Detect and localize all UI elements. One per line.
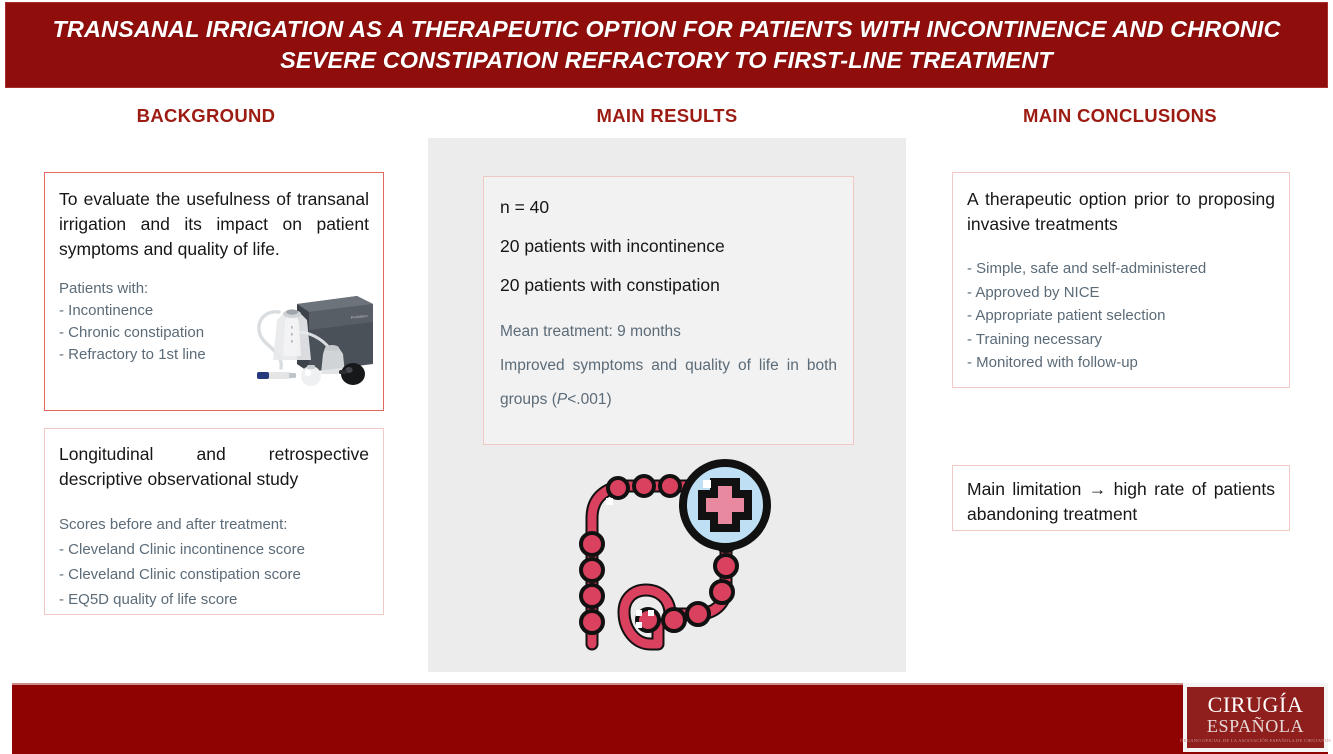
section-heading-main-results: MAIN RESULTS <box>428 105 906 127</box>
journal-logo-line-1: CIRUGÍA <box>1208 694 1304 716</box>
journal-logo-inner: CIRUGÍA ESPAÑOLA ÓRGANO OFICIAL DE LA AS… <box>1187 687 1324 748</box>
section-heading-background: BACKGROUND <box>0 105 412 127</box>
objective-patient-list: Patients with: - Incontinence - Chronic … <box>59 278 369 366</box>
list-item: - Simple, safe and self-administered <box>967 257 1275 281</box>
section-heading-main-conclusions: MAIN CONCLUSIONS <box>950 105 1290 127</box>
results-incontinence-group: 20 patients with incontinence <box>500 234 837 258</box>
page-title: TRANSANAL IRRIGATION AS A THERAPEUTIC OP… <box>28 14 1305 76</box>
list-item: - Incontinence <box>59 300 369 322</box>
journal-logo: CIRUGÍA ESPAÑOLA ÓRGANO OFICIAL DE LA AS… <box>1183 683 1328 752</box>
journal-logo-subtitle: ÓRGANO OFICIAL DE LA ASOCIACIÓN ESPAÑOLA… <box>1180 737 1331 744</box>
results-sample-size: n = 40 <box>500 195 837 219</box>
objective-statement: To evaluate the usefulness of transanal … <box>59 187 369 262</box>
study-design-statement: Longitudinal and retrospective descripti… <box>59 442 369 492</box>
results-box: n = 40 20 patients with incontinence 20 … <box>483 176 854 445</box>
list-item: - Refractory to 1st line <box>59 344 369 366</box>
list-item: - Appropriate patient selection <box>967 304 1275 328</box>
p-value-symbol: P <box>557 391 567 408</box>
list-item: - Chronic constipation <box>59 322 369 344</box>
list-item: - EQ5D quality of life score <box>59 587 369 612</box>
list-item: - Training necessary <box>967 328 1275 352</box>
study-design-score-list: Scores before and after treatment: - Cle… <box>59 512 369 612</box>
conclusion-bullet-list: - Simple, safe and self-administered - A… <box>967 257 1275 375</box>
objective-list-title: Patients with: <box>59 278 369 300</box>
list-item: - Cleveland Clinic incontinence score <box>59 537 369 562</box>
results-key-numbers: n = 40 20 patients with incontinence 20 … <box>500 195 837 297</box>
list-item: - Approved by NICE <box>967 281 1275 305</box>
footer-bar <box>12 683 1328 754</box>
large-intestine-colon-icon <box>562 448 782 668</box>
study-design-box: Longitudinal and retrospective descripti… <box>44 428 384 615</box>
list-item: - Monitored with follow-up <box>967 351 1275 375</box>
design-list-title: Scores before and after treatment: <box>59 512 369 537</box>
limitation-statement: Main limitation → high rate of patients … <box>967 477 1275 527</box>
results-mean-treatment: Mean treatment: 9 months <box>500 315 837 349</box>
objective-box: To evaluate the usefulness of transanal … <box>44 172 384 411</box>
conclusion-box: A therapeutic option prior to proposing … <box>952 172 1290 388</box>
results-improvement-statement: Improved symptoms and quality of life in… <box>500 349 837 417</box>
list-item: - Cleveland Clinic constipation score <box>59 562 369 587</box>
conclusion-statement: A therapeutic option prior to proposing … <box>967 187 1275 237</box>
poster-title-bar: TRANSANAL IRRIGATION AS A THERAPEUTIC OP… <box>5 2 1328 88</box>
results-constipation-group: 20 patients with constipation <box>500 273 837 297</box>
improvement-text-before: Improved symptoms and quality of life in… <box>500 357 837 408</box>
limitation-box: Main limitation → high rate of patients … <box>952 465 1290 531</box>
journal-logo-line-2: ESPAÑOLA <box>1207 716 1304 736</box>
results-secondary-text: Mean treatment: 9 months Improved sympto… <box>500 315 837 417</box>
improvement-text-after: <.001) <box>567 391 611 408</box>
